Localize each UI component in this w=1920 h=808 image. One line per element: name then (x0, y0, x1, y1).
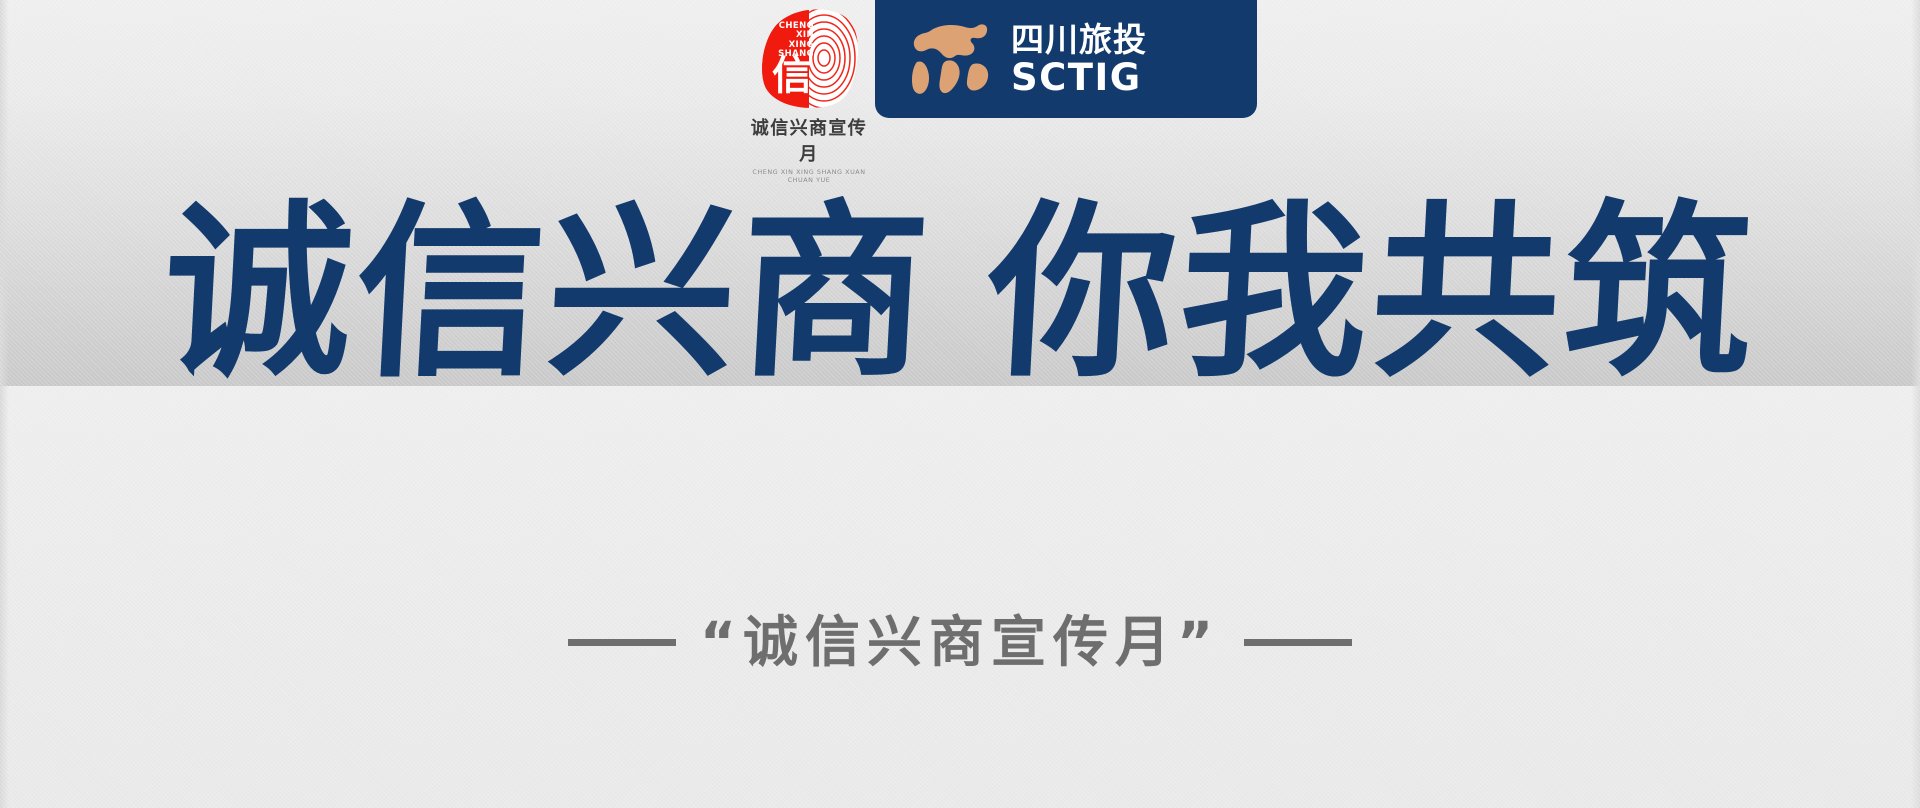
logo-row: CHENG XIN XING SHANG 信 诚信兴商宣传月 CHENG XIN… (0, 0, 1920, 150)
background-lower-band (0, 386, 1920, 808)
headline: 诚信兴商你我共筑 (0, 186, 1920, 400)
chengxin-seal-logo: CHENG XIN XING SHANG 信 诚信兴商宣传月 CHENG XIN… (745, 6, 873, 158)
sctig-logo-panel: 四川旅投 SCTIG (875, 0, 1257, 118)
sctig-text-block: 四川旅投 SCTIG (1011, 22, 1147, 97)
sctig-name-english: SCTIG (1011, 58, 1147, 97)
seal-caption-chinese: 诚信兴商宣传月 (745, 114, 873, 166)
headline-part-2: 你我共筑 (982, 182, 1762, 403)
headline-part-1: 诚信兴商 (158, 182, 938, 403)
subtitle-rule-right (1244, 639, 1352, 646)
sctig-name-chinese: 四川旅投 (1011, 22, 1147, 58)
subtitle-rule-left (568, 639, 676, 646)
globe-icon (903, 20, 995, 98)
subtitle-text: “诚信兴商宣传月” (700, 606, 1220, 678)
seal-character-xin: 信 (772, 55, 812, 97)
seal-mark: CHENG XIN XING SHANG 信 (756, 6, 862, 110)
campaign-banner: CHENG XIN XING SHANG 信 诚信兴商宣传月 CHENG XIN… (0, 0, 1920, 808)
subtitle-row: “诚信兴商宣传月” (0, 606, 1920, 678)
